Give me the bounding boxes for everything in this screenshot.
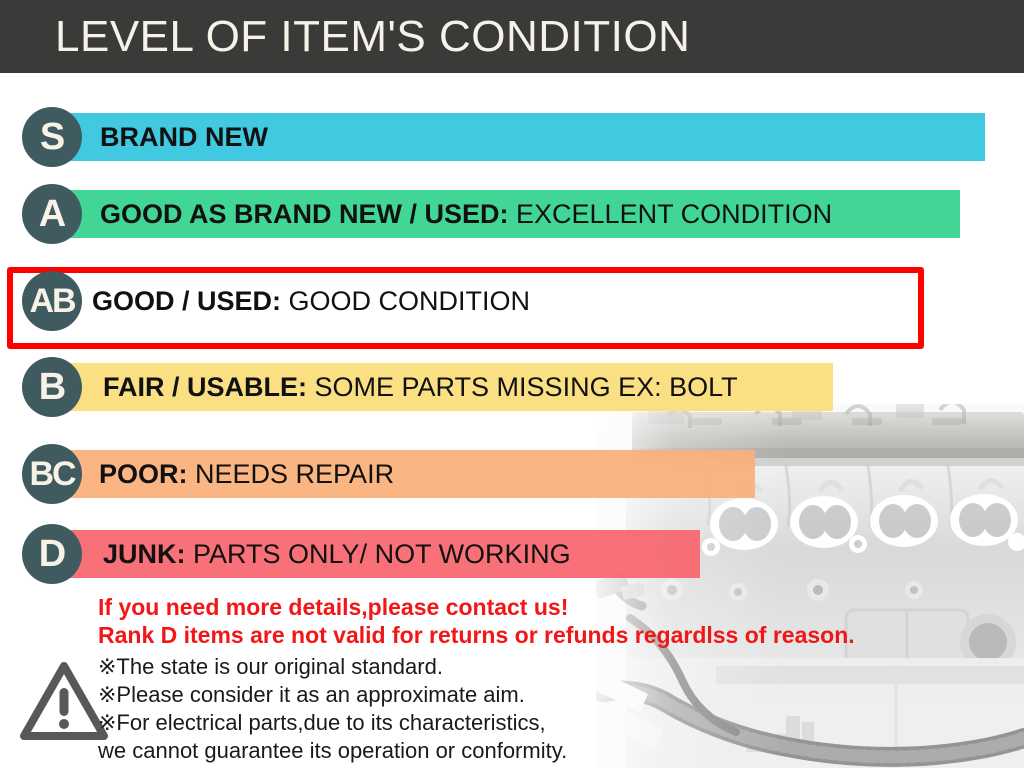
rank-label-b-normal: SOME PARTS MISSING EX: BOLT: [307, 372, 738, 402]
disclaimer-line-4: we cannot guarantee its operation or con…: [98, 737, 567, 765]
rank-label-bc-bold: POOR:: [99, 459, 188, 489]
rank-badge-s: S: [22, 107, 82, 167]
rank-label-b-bold: FAIR / USABLE:: [103, 372, 307, 402]
notice-block: If you need more details,please contact …: [98, 593, 855, 649]
rank-badge-d: D: [22, 524, 82, 584]
disclaimer-line-3: ※For electrical parts,due to its charact…: [98, 709, 567, 737]
disclaimer-line-1: ※The state is our original standard.: [98, 653, 567, 681]
rank-label-s-bold: BRAND NEW: [100, 122, 268, 152]
rank-label-b: FAIR / USABLE: SOME PARTS MISSING EX: BO…: [103, 363, 738, 411]
warning-triangle-icon: [18, 658, 110, 746]
notice-line-1: If you need more details,please contact …: [98, 593, 855, 621]
rank-label-ab-normal: GOOD CONDITION: [281, 286, 530, 316]
rank-badge-bc: BC: [22, 444, 82, 504]
rank-label-a-bold: GOOD AS BRAND NEW / USED:: [100, 199, 509, 229]
rank-label-ab-bold: GOOD / USED:: [92, 286, 281, 316]
rank-label-s: BRAND NEW: [100, 113, 268, 161]
notice-line-2: Rank D items are not valid for returns o…: [98, 621, 855, 649]
condition-level-infographic: LEVEL OF ITEM'S CONDITION S BRAND NEW A …: [0, 0, 1024, 768]
rank-label-d: JUNK: PARTS ONLY/ NOT WORKING: [103, 530, 571, 578]
disclaimer-line-2: ※Please consider it as an approximate ai…: [98, 681, 567, 709]
rank-label-d-normal: PARTS ONLY/ NOT WORKING: [186, 539, 571, 569]
rank-label-d-bold: JUNK:: [103, 539, 186, 569]
page-title: LEVEL OF ITEM'S CONDITION: [55, 11, 690, 63]
rank-label-a-normal: EXCELLENT CONDITION: [509, 199, 833, 229]
disclaimer-block: ※The state is our original standard. ※Pl…: [98, 653, 567, 765]
rank-label-a: GOOD AS BRAND NEW / USED: EXCELLENT COND…: [100, 190, 832, 238]
rank-badge-ab: AB: [22, 271, 82, 331]
rank-badge-a: A: [22, 184, 82, 244]
rank-label-bc-normal: NEEDS REPAIR: [188, 459, 395, 489]
rank-label-ab: GOOD / USED: GOOD CONDITION: [92, 277, 530, 325]
rank-label-bc: POOR: NEEDS REPAIR: [99, 450, 394, 498]
rank-badge-b: B: [22, 357, 82, 417]
